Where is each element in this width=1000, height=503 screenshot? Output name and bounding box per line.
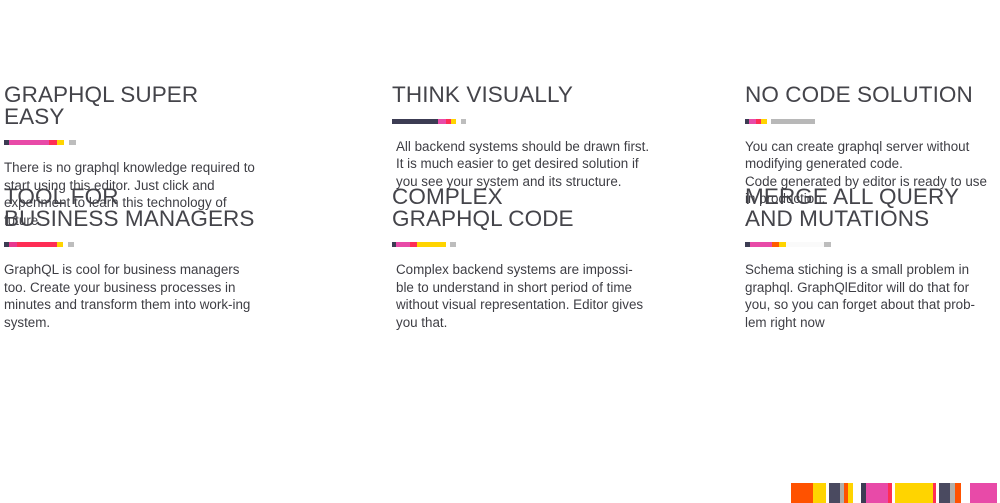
accent-bar-segment [779, 242, 786, 247]
feature-body: Complex backend systems are impossi-ble … [392, 261, 650, 331]
accent-bar-segment [771, 119, 815, 124]
feature-title: THINK VISUALLY [392, 84, 650, 106]
color-stripe [970, 483, 997, 503]
feature-card-think-visually: THINK VISUALLY All backend systems shoul… [386, 0, 740, 172]
accent-bar [392, 242, 456, 247]
accent-bar-segment [824, 242, 831, 247]
feature-body: Schema stiching is a small problem in gr… [745, 261, 995, 331]
color-stripe [791, 483, 813, 503]
feature-card-graphql-super-easy: GRAPHQL SUPER EASY There is no graphql k… [0, 0, 386, 172]
accent-bar-segment [750, 242, 772, 247]
accent-bar-segment [461, 119, 466, 124]
feature-title: GRAPHQL SUPER EASY [4, 84, 258, 127]
accent-bar [745, 242, 831, 247]
color-stripe [961, 483, 970, 503]
features-grid: GRAPHQL SUPER EASY There is no graphql k… [0, 0, 1000, 460]
feature-card-tool-for-business-managers: TOOL FOR BUSINESS MANAGERS GraphQL is co… [0, 172, 386, 460]
color-stripe [829, 483, 840, 503]
feature-card-merge-all-query-and-mutations: MERGE ALL QUERY AND MUTATIONS Schema sti… [740, 172, 1000, 460]
accent-bar-segment [396, 242, 410, 247]
decorative-color-stripes [791, 483, 1000, 503]
color-stripe [853, 483, 861, 503]
accent-bar [4, 140, 76, 145]
feature-card-complex-graphql-code: COMPLEX GRAPHQL CODE Complex backend sys… [386, 172, 740, 460]
feature-card-no-code-solution: NO CODE SOLUTION You can create graphql … [740, 0, 1000, 172]
accent-bar [745, 119, 815, 124]
accent-bar-segment [417, 242, 446, 247]
accent-bar-segment [438, 119, 446, 124]
accent-bar-segment [749, 119, 756, 124]
feature-title: TOOL FOR BUSINESS MANAGERS [4, 186, 258, 229]
accent-bar-segment [450, 242, 456, 247]
feature-body: GraphQL is cool for business managers to… [4, 261, 258, 331]
accent-bar-segment [68, 242, 74, 247]
accent-bar-segment [17, 242, 57, 247]
accent-bar-segment [9, 140, 49, 145]
accent-bar-segment [392, 119, 438, 124]
accent-bar-segment [410, 242, 417, 247]
feature-title: COMPLEX GRAPHQL CODE [392, 186, 650, 229]
feature-title: MERGE ALL QUERY AND MUTATIONS [745, 186, 995, 229]
accent-bar [4, 242, 74, 247]
accent-bar-segment [69, 140, 76, 145]
accent-bar-segment [9, 242, 17, 247]
accent-bar-segment [786, 242, 824, 247]
accent-bar-segment [772, 242, 779, 247]
color-stripe [939, 483, 950, 503]
accent-bar-segment [49, 140, 57, 145]
accent-bar-segment [57, 140, 64, 145]
feature-title: NO CODE SOLUTION [745, 84, 995, 106]
color-stripe [813, 483, 826, 503]
color-stripe [866, 483, 888, 503]
accent-bar [392, 119, 466, 124]
color-stripe [895, 483, 933, 503]
